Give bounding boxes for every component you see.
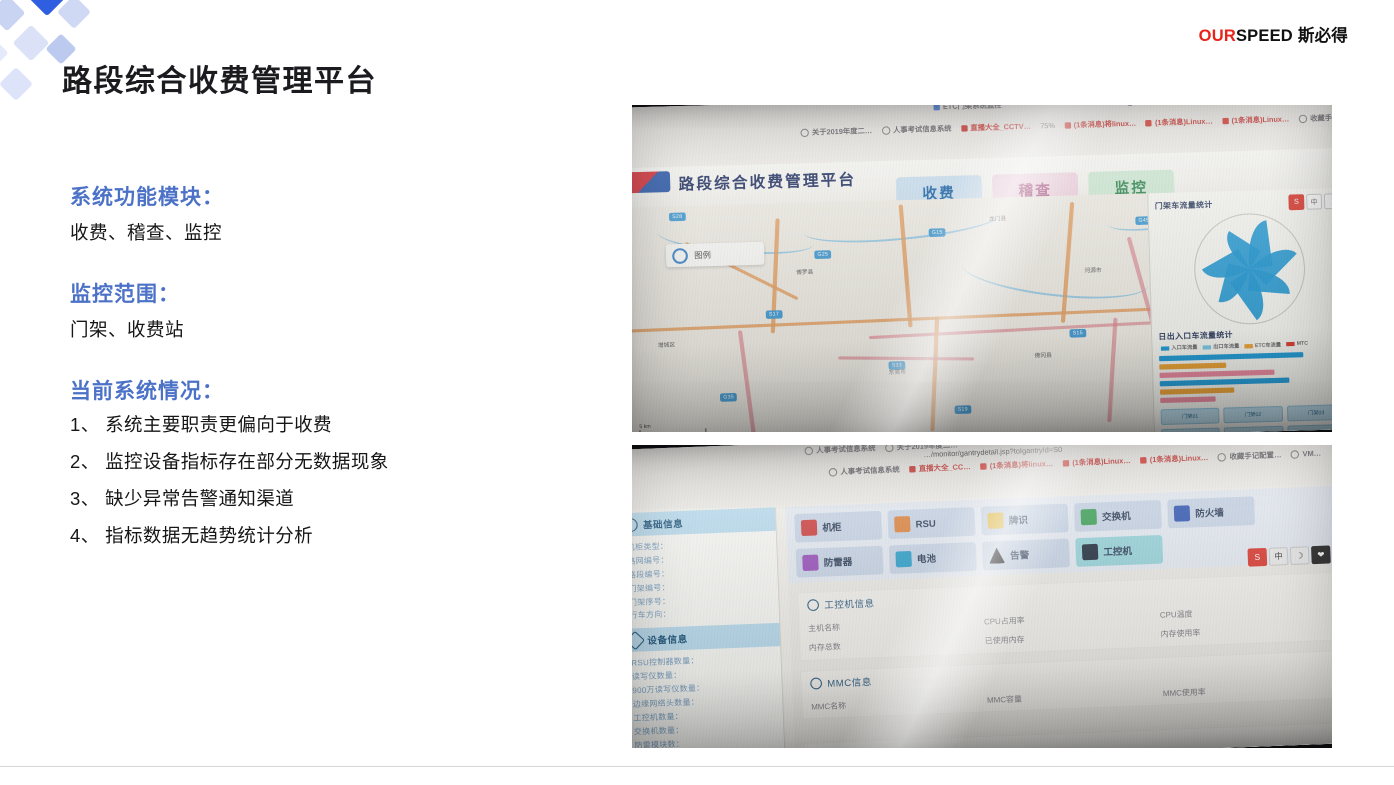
device-tab-label: 工控机 [1103,544,1132,559]
field-label: MMC使用率 [1163,681,1332,700]
section-body: 收费、稽查、监控 [70,219,570,248]
field-label: 内存使用率 [1160,622,1332,641]
map-canvas[interactable]: S28 G25 G15 G45 S21 S17 G55 S33 S15 G35 … [632,193,1154,432]
legend-entry: ETC车流量 [1255,342,1281,349]
bar [1159,352,1303,361]
list-item: 2、 监控设备指标存在部分无数据现象 [70,450,570,475]
device-tab-label: 防雷器 [823,554,852,569]
brand-our: OUR [1199,27,1236,45]
map-place-label: 河源市 [1084,266,1101,275]
cctv-icon [909,466,916,473]
screenshot-photo-map-overview: ETC门架系统监控 数据监控 关于2019年度二… 人事考试信息系统 直播大全_… [632,105,1332,432]
map-road-label: G25 [814,250,831,259]
zoom-level[interactable]: 75% [1040,121,1055,132]
bookmark-item[interactable]: 人事考试信息系统 [840,464,900,477]
tab-favicon-icon [1126,105,1135,106]
globe-icon [881,126,890,135]
device-tab-cabinet[interactable]: 机柜 [794,511,882,543]
globe-icon [800,129,809,138]
device-tab-label: 告警 [1010,547,1030,562]
bar [1159,370,1274,378]
gantry-button[interactable]: 门架06 [1287,424,1332,432]
sidebar-group-title: 设备信息 [647,632,688,647]
map-place-label: 博罗县 [796,267,813,276]
device-tab-label: 交换机 [1102,509,1131,524]
field-label: MMC容量 [987,687,1159,706]
tab-favicon-icon [934,105,940,110]
panel-mmc-info: MMC信息 MMC名称 MMC容量 MMC使用率 [800,649,1332,719]
monitor-screen-map: ETC门架系统监控 数据监控 关于2019年度二… 人事考试信息系统 直播大全_… [632,105,1332,432]
map-road-label: S15 [1069,329,1086,338]
bar [1160,378,1290,387]
field-label: MMC名称 [811,694,983,713]
legend-entry: 入口车流量 [1171,345,1197,352]
map-road-label: S28 [669,212,686,221]
map-legend-label: 图例 [694,249,711,261]
bookmark-item[interactable]: (1条消息)将linux… [990,459,1054,472]
list-item: 1、 系统主要职责更偏向于收费 [70,413,570,438]
section-heading: 监控范围： [70,282,570,307]
info-icon [810,677,822,689]
browser-tab[interactable]: 数据监控 [1137,105,1167,107]
field-label: CPU温度 [1160,603,1332,622]
device-tab-arrester[interactable]: 防雷器 [796,546,884,578]
plate-recognition-icon [987,512,1003,528]
map-place-label: 东莞市 [889,367,906,376]
bookmark-item[interactable]: 关于2019年度二… [812,126,872,138]
device-tab-alarm[interactable]: 告警 [982,539,1070,571]
left-content-column: 系统功能模块： 收费、稽查、监控 监控范围： 门架、收费站 当前系统情况： 1、… [70,185,570,571]
monitor-screen-detail: 人事考试信息系统 关于2019年度二… ETC门架系统监控 数据监控 …/mon… [632,445,1332,748]
csdn-icon [1222,118,1228,124]
detail-main-content: 机柜 RSU 牌识 交换机 [785,486,1332,748]
ime-key-moon[interactable]: ☽ [1290,546,1310,565]
panel-title: MMC信息 [827,674,872,689]
legend-entry: 出口车流量 [1213,343,1239,350]
field-label: 已使用内存 [985,629,1157,648]
gantry-button[interactable]: 门架03 [1287,404,1332,421]
chart1-rose-chart [1155,211,1332,327]
slide-root: OURSPEED斯必得 路段综合收费管理平台 系统功能模块： 收费、稽查、监控 … [0,0,1394,785]
brand-logo: OURSPEED斯必得 [1199,22,1348,46]
lightning-arrester-icon [802,555,818,571]
section-monitor-scope: 监控范围： 门架、收费站 [70,282,570,345]
bookmark-item[interactable]: (1条消息)Linux… [1072,456,1131,469]
bookmark-item[interactable]: 人事考试信息系统 [816,445,876,456]
footer-divider [0,766,1394,767]
map-place-label: 增城区 [658,340,675,349]
list-item: 4、 指标数据无趋势统计分析 [70,524,570,549]
gantry-button-grid[interactable]: 门架01 门架02 门架03 门架04 门架05 门架06 门架07 门架08 … [1161,404,1332,432]
ime-key-moon[interactable]: ☽ [1324,193,1332,209]
panel-title: 工控机信息 [824,596,875,612]
device-tab-rsu[interactable]: RSU [887,507,975,539]
screenshot-photo-gantry-detail: 人事考试信息系统 关于2019年度二… ETC门架系统监控 数据监控 …/mon… [632,445,1332,748]
app-logo-icon [632,171,670,193]
bookmark-item[interactable]: (1条消息)Linux… [1155,116,1213,128]
ime-key-chinese[interactable]: 中 [1306,194,1322,210]
warning-icon [989,547,1005,563]
ime-key-s[interactable]: S [1288,194,1304,210]
device-tab-battery[interactable]: 电池 [889,542,977,574]
map-place-label: 龙门县 [989,214,1006,223]
device-tab-industrial-pc[interactable]: 工控机 [1075,535,1163,567]
csdn-icon [1146,120,1152,126]
bar [1160,387,1234,394]
bookmark-item[interactable]: 人事考试信息系统 [893,124,952,136]
chart2-bar-chart: 日出入口车流量统计 入口车流量 出口车流量 ETC车流量 MTC [1158,326,1332,403]
bookmark-item[interactable]: 收藏手记配置… [1229,450,1281,463]
map-road-label: G15 [929,228,946,237]
section-heading: 当前系统情况： [70,379,570,404]
globe-icon [1291,450,1300,459]
csdn-icon [1140,457,1147,464]
map-legend-control[interactable]: 图例 [666,242,765,268]
legend-marker-icon [672,247,688,263]
section-body: 门架、收费站 [70,316,570,345]
globe-icon [885,445,894,452]
device-tab-label: 牌识 [1009,513,1029,528]
map-scale-bar: 5 km [639,422,706,432]
map-road-label: S19 [954,405,971,414]
app-title: 路段综合收费管理平台 [678,168,856,195]
rose-chart-body [1192,212,1306,326]
chart1-title: 门架车流量统计 [1155,199,1213,212]
ime-key-heart[interactable]: ❤ [1311,545,1331,564]
field-label: 主机名称 [808,616,980,635]
bookmark-item[interactable]: 直播大全_CC… [919,462,971,475]
switch-icon [1080,509,1096,525]
section-function-modules: 系统功能模块： 收费、稽查、监控 [70,185,570,248]
info-icon [807,599,819,611]
csdn-icon [1063,460,1070,467]
panel-header: 硬盘信息 [813,728,1332,748]
panel-field-grid: 主机名称 CPU占用率 CPU温度 内存总数 已使用内存 内存使用率 [808,603,1332,654]
field-label: 内存总数 [809,636,981,655]
wrench-icon [632,631,645,650]
bar [1159,363,1226,370]
gantry-button[interactable]: 门架01 [1161,408,1220,425]
issue-list: 1、 系统主要职责更偏向于收费 2、 监控设备指标存在部分无数据现象 3、 缺少… [70,413,570,549]
panel-title: 硬盘信息 [830,746,871,748]
gear-icon [632,517,638,531]
panel-disk-info: 硬盘信息 硬盘名称 硬盘容量 硬盘使用率 [803,722,1332,748]
sidebar-group-title: 基础信息 [643,516,684,531]
page-title: 路段综合收费管理平台 [62,56,377,100]
csdn-icon [980,463,987,470]
map-road-label: G35 [720,393,737,402]
device-info-field-list: RSU控制器数量： 读写仪数量： 900万读写仪数量： 边缘网络头数量： 工控机… [632,647,786,748]
device-tab-label: 防火墙 [1195,505,1224,520]
basic-info-field-list: 机柜类型： 路网编号： 路段编号： 门架编号： 门架序号： 行车方向： [632,531,779,630]
brand-speed: SPEED [1236,27,1293,45]
analytics-side-panel: 门架车流量统计 S 中 ☽ [1147,188,1332,432]
browser-tab[interactable]: ETC门架系统监控 [943,105,1002,112]
cabinet-icon [801,520,817,536]
detail-sidebar: 基础信息 机柜类型： 路网编号： 路段编号： 门架编号： 门架序号： 行车方向：… [632,507,786,748]
field-label: CPU占用率 [984,609,1156,628]
gantry-button[interactable]: 门架02 [1224,406,1283,423]
globe-icon [1299,115,1308,124]
ime-key-chinese[interactable]: 中 [1269,547,1289,566]
map-place-label: 佛冈县 [1034,351,1051,360]
legend-entry: MTC [1297,340,1309,347]
globe-icon [804,447,813,456]
device-tab-label: 电池 [917,551,937,566]
device-tab-firewall[interactable]: 防火墙 [1167,496,1255,528]
gantry-button[interactable]: 门架04 [1161,428,1220,432]
device-tab-plate[interactable]: 牌识 [981,504,1069,536]
bar [1160,396,1216,403]
list-item: 3、 缺少异常告警通知渠道 [70,487,570,512]
device-tab-label: 机柜 [822,520,842,535]
globe-icon [1218,453,1227,462]
map-scale-label: 5 km [639,424,651,431]
firewall-icon [1174,505,1190,521]
section-current-status: 当前系统情况： 1、 系统主要职责更偏向于收费 2、 监控设备指标存在部分无数据… [70,379,570,549]
cctv-icon [961,125,967,131]
gantry-detail-page: 基础信息 机柜类型： 路网编号： 路段编号： 门架编号： 门架序号： 行车方向：… [632,483,1332,748]
csdn-icon [1064,122,1070,128]
ime-toolbar[interactable]: S 中 ☽ [1288,193,1332,210]
brand-cn: 斯必得 [1298,27,1348,45]
bookmark-item[interactable]: (1条消息)Linux… [1150,453,1209,466]
battery-icon [895,551,911,567]
map-road-label: S17 [766,310,783,319]
bookmark-item[interactable]: (1条消息)Linux… [1231,114,1289,126]
panel-industrial-pc-info: 工控机信息 主机名称 CPU占用率 CPU温度 内存总数 已使用内存 内存使用率 [797,572,1332,661]
globe-icon [829,468,838,477]
device-tab-switch[interactable]: 交换机 [1074,500,1162,532]
ime-floating-bar[interactable]: S 中 ☽ ❤ [1247,545,1330,566]
gantry-button[interactable]: 门架05 [1224,426,1283,432]
rsu-antenna-icon [894,516,910,532]
device-tab-label: RSU [915,518,936,529]
industrial-pc-icon [1082,544,1098,560]
bookmark-item[interactable]: 收藏手记配置… [1310,112,1332,124]
ime-key-s[interactable]: S [1247,548,1267,567]
bookmark-item[interactable]: (1条消息)将linux… [1074,118,1137,130]
bookmark-item[interactable]: VM… [1302,450,1321,458]
bookmark-item[interactable]: 直播大全_CCTV… [970,121,1031,133]
section-heading: 系统功能模块： [70,185,570,210]
